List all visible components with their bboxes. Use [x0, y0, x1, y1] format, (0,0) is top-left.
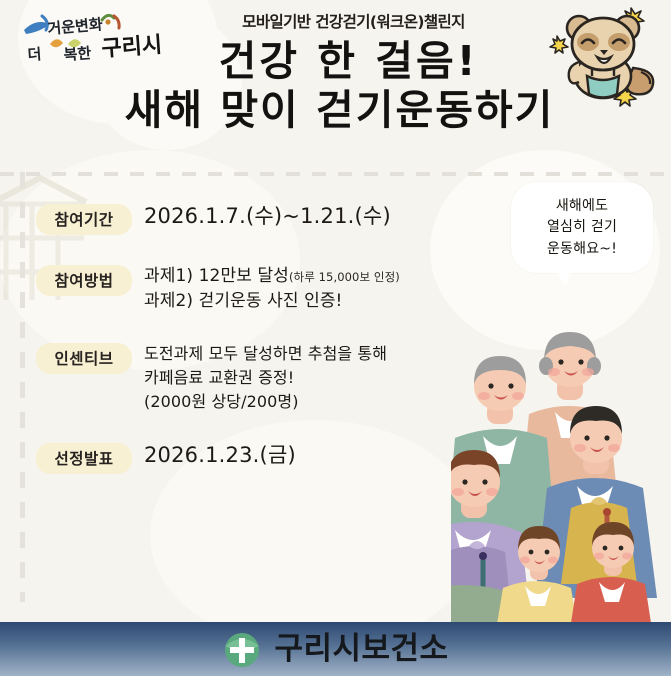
- info-value-method: 과제1) 12만보 달성(하루 15,000보 인정) 과제2) 걷기운동 사진…: [144, 263, 470, 313]
- bubble-line-2: 열심히 걷기: [521, 217, 643, 238]
- info-value-period: 2026.1.7.(수)~1.21.(수): [144, 202, 470, 230]
- info-value-announcement: 2026.1.23.(금): [144, 441, 470, 469]
- incentive-line-3: (2000원 상당/200명): [144, 390, 470, 414]
- period-date-range: 2026.1.7.(수)~1.21.(수): [144, 203, 470, 230]
- footer-organization: 구리시보건소: [274, 634, 448, 665]
- info-row-incentive: 인센티브 도전과제 모두 달성하면 추첨을 통해 카페음료 교환권 증정! (2…: [36, 341, 470, 413]
- korean-family-illustration: [451, 292, 671, 622]
- poster-footer: 구리시보건소: [0, 622, 671, 676]
- info-label-announcement: 선정발표: [36, 443, 132, 474]
- info-row-announcement: 선정발표 2026.1.23.(금): [36, 441, 470, 474]
- method-task-1-text: 과제1) 12만보 달성: [144, 266, 289, 286]
- info-list: 참여기간 2026.1.7.(수)~1.21.(수) 참여방법 과제1) 12만…: [0, 176, 470, 474]
- poster-header: 즐거운 변화 더 행복한 구리시 거운변화 더 복한 구리시 모바일기반 건강걷…: [0, 0, 671, 170]
- bubble-line-1: 새해에도: [521, 196, 643, 217]
- health-center-cross-logo-icon: [222, 629, 262, 669]
- raccoon-mascot-icon: [545, 2, 665, 114]
- poster-root: 즐거운 변화 더 행복한 구리시 거운변화 더 복한 구리시 모바일기반 건강걷…: [0, 0, 671, 676]
- info-row-period: 참여기간 2026.1.7.(수)~1.21.(수): [36, 202, 470, 235]
- method-task-2: 과제2) 걷기운동 사진 인증!: [144, 289, 470, 314]
- info-row-method: 참여방법 과제1) 12만보 달성(하루 15,000보 인정) 과제2) 걷기…: [36, 263, 470, 313]
- announcement-date: 2026.1.23.(금): [144, 442, 470, 469]
- method-task-1: 과제1) 12만보 달성(하루 15,000보 인정): [144, 264, 470, 289]
- speech-bubble: 새해에도 열심히 걷기 운동해요~!: [511, 182, 653, 273]
- info-label-incentive: 인센티브: [36, 343, 132, 374]
- method-task-1-note: (하루 15,000보 인정): [289, 270, 400, 284]
- info-value-incentive: 도전과제 모두 달성하면 추첨을 통해 카페음료 교환권 증정! (2000원 …: [144, 341, 470, 413]
- info-label-period: 참여기간: [36, 204, 132, 235]
- incentive-line-1: 도전과제 모두 달성하면 추첨을 통해: [144, 342, 470, 366]
- info-label-method: 참여방법: [36, 265, 132, 296]
- bubble-line-3: 운동해요~!: [521, 239, 643, 260]
- incentive-line-2: 카페음료 교환권 증정!: [144, 366, 470, 390]
